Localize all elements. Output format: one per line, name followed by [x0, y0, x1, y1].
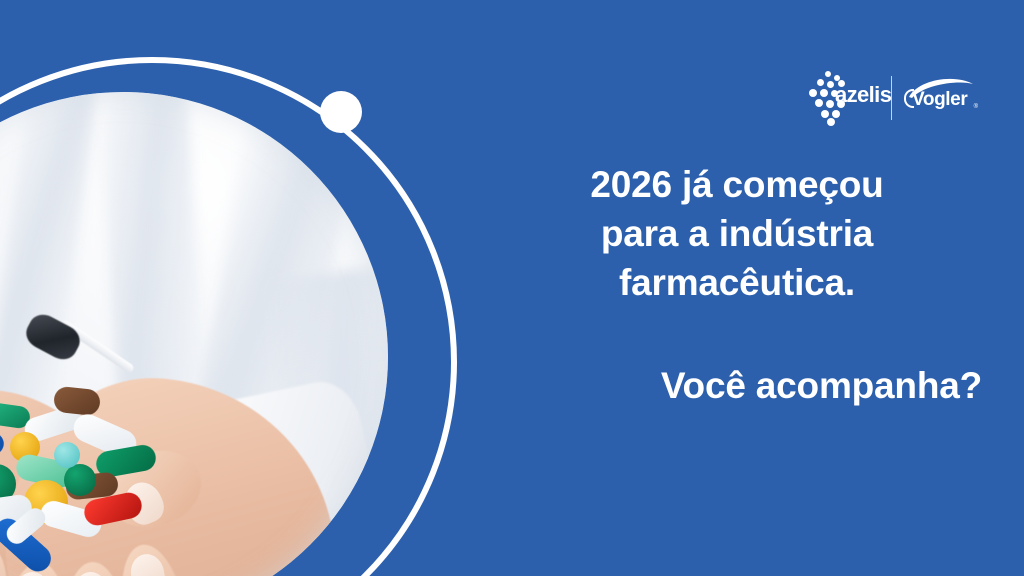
brand-logo-lockup[interactable]: azelis Vogler ®	[805, 70, 980, 126]
azelis-wordmark: azelis	[835, 84, 891, 106]
page-title: 2026 já começou para a indústria farmacê…	[482, 160, 992, 308]
circular-orbit-ring	[0, 42, 472, 576]
promotional-banner: 2026 já começou para a indústria farmacê…	[0, 0, 1024, 576]
headline-line-3: farmacêutica.	[482, 258, 992, 307]
azelis-dots-icon: azelis	[805, 71, 885, 125]
registered-trademark-mark: ®	[974, 104, 978, 110]
vogler-logo: Vogler ®	[903, 77, 977, 119]
vogler-wordmark: Vogler	[912, 90, 967, 109]
orbit-node-dot	[320, 91, 362, 133]
subheadline: Você acompanha?	[482, 364, 982, 408]
headline-line-1: 2026 já começou	[482, 160, 992, 209]
orbit-ring-circle	[0, 60, 454, 576]
headline-line-2: para a indústria	[482, 209, 992, 258]
